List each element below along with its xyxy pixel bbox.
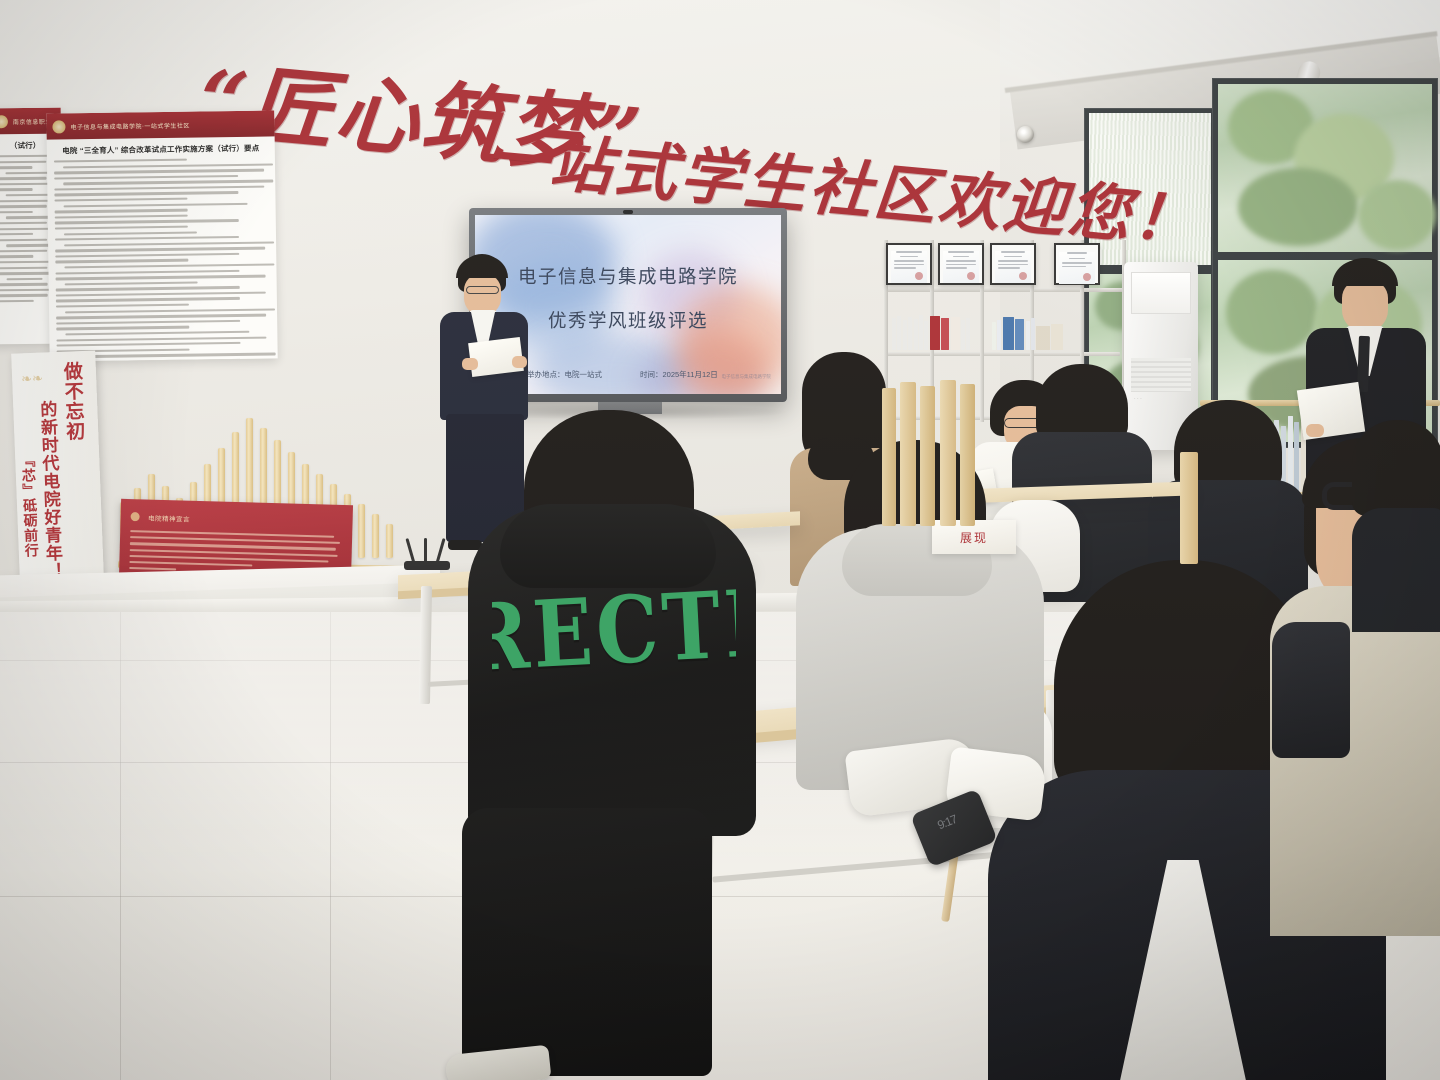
hoodie-print-text: RECTI	[492, 570, 736, 693]
poster-body-text	[47, 155, 278, 361]
certificate-frame	[990, 243, 1036, 285]
certificate-frame	[938, 243, 984, 285]
poster-header: 电子信息与集成电路学院·一站式学生社区	[46, 110, 274, 139]
seal-icon	[52, 120, 65, 133]
decor-mark-icon: ❧❧	[21, 370, 52, 393]
wood-panel	[960, 384, 975, 526]
wood-panel	[1180, 452, 1198, 564]
hair	[1352, 420, 1440, 516]
poster-header-text: 电子信息与集成电路学院·一站式学生社区	[70, 120, 190, 131]
shelf-books	[992, 316, 1035, 350]
window-pane-upper	[1218, 84, 1432, 252]
student-far-right	[1352, 420, 1440, 630]
slide-title-line1: 电子信息与集成电路学院	[518, 263, 738, 289]
wood-panel	[920, 386, 935, 526]
slide-time: 时间：2025年11月12日	[640, 369, 718, 380]
wall-poster-main: 电子信息与集成电路学院·一站式学生社区 电院 “三全育人” 综合改革试点工作实施…	[46, 110, 277, 361]
hair-fringe	[456, 256, 508, 278]
certificate-frame	[1054, 243, 1100, 285]
student-hoodie: RECTI	[440, 410, 760, 1080]
hand	[462, 358, 478, 370]
phone-lock-time: 9:17	[936, 813, 958, 831]
vertical-banner: ❧❧ 做不忘初 的新时代电院好青年！ 『芯』砥砺前行	[11, 350, 105, 605]
glasses-icon	[466, 286, 499, 294]
photo-scene: “匠心筑梦” 一站式学生社区欢迎您！ 南京信息职业技术学院 · 一站式学生社区 …	[0, 0, 1440, 1080]
face	[1342, 280, 1388, 332]
wood-panel	[900, 382, 916, 526]
trousers	[462, 808, 712, 1076]
necktie	[1357, 336, 1370, 392]
display-camera-icon	[623, 210, 633, 214]
slide-title-line2: 优秀学风班级评选	[548, 307, 708, 333]
hair	[1036, 364, 1128, 442]
hoodie-print-area: RECTI	[492, 560, 736, 702]
shelf-books	[1036, 322, 1063, 350]
banner-column-3: 『芯』砥砺前行	[17, 453, 41, 559]
plaque-title: 电院精神宣言	[148, 512, 190, 523]
display-box-label: 展现	[960, 529, 988, 546]
foliage	[1358, 180, 1436, 250]
slide-meta: 举办地点：电院一站式 时间：2025年11月12日	[527, 369, 718, 380]
sneaker	[445, 1045, 552, 1080]
foliage	[1238, 168, 1358, 246]
shelf-books	[892, 314, 970, 350]
slide-watermark: 电子信息与集成电路学院	[722, 374, 772, 380]
banner-column-1: 做不忘初	[59, 361, 89, 442]
certificate-frame	[886, 243, 932, 285]
dark-jacket	[1352, 508, 1440, 632]
plaque-title-row: 电院精神宣言	[130, 508, 342, 532]
jacket-shadow-panel	[1272, 622, 1350, 758]
seal-icon	[0, 115, 8, 128]
ac-display-panel	[1131, 272, 1191, 314]
hair-fringe	[1332, 260, 1398, 286]
security-camera-icon	[1017, 126, 1034, 143]
wood-panel	[882, 388, 896, 526]
plaque-seal-icon	[131, 512, 140, 521]
wood-panel	[940, 380, 956, 526]
hand	[512, 356, 527, 368]
